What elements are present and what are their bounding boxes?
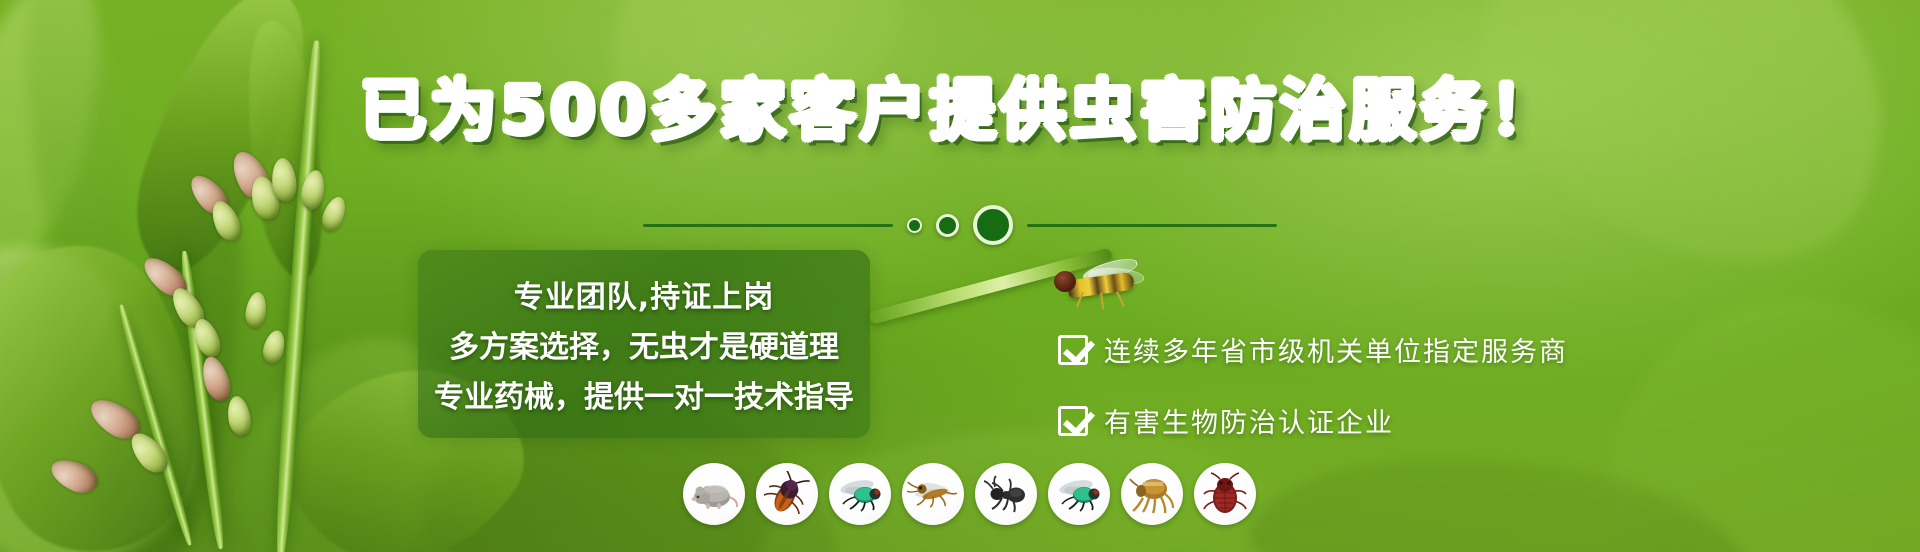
bedbug-icon [1194, 463, 1256, 525]
divider-line-right [1027, 224, 1277, 227]
mosquito-icon [902, 463, 964, 525]
blowfly-icon [829, 463, 891, 525]
banner-headline-text: 已为500多家客户提供虫害防治服务！ [360, 72, 1560, 149]
checkbox-checked-icon [1058, 335, 1088, 365]
dot-large-icon [973, 205, 1013, 245]
rat-icon [683, 463, 745, 525]
cockroach-icon [756, 463, 818, 525]
dot-medium-icon [936, 214, 959, 237]
hoverfly-head [1054, 271, 1076, 292]
certification-bullets: 连续多年省市级机关单位指定服务商 有害生物防治认证企业 [1058, 330, 1568, 472]
hoverfly-icon [1048, 260, 1156, 306]
selling-point-line-2: 多方案选择，无虫才是硬道理 [449, 322, 839, 366]
bullet-row-1: 连续多年省市级机关单位指定服务商 [1058, 330, 1568, 369]
dot-small-icon [907, 218, 922, 233]
bullet-text-2: 有害生物防治认证企业 [1104, 401, 1394, 440]
selling-point-line-3: 专业药械，提供一对一技术指导 [434, 372, 854, 416]
blowfly-icon-2 [1048, 463, 1110, 525]
flea-icon [1121, 463, 1183, 525]
selling-points-panel: 专业团队,持证上岗 多方案选择，无虫才是硬道理 专业药械，提供一对一技术指导 [418, 250, 870, 438]
checkbox-checked-icon [1058, 406, 1088, 436]
banner-headline: 已为500多家客户提供虫害防治服务！ [0, 78, 1920, 144]
pest-control-banner: 已为500多家客户提供虫害防治服务！ 专业团队,持证上岗 多方案选择，无虫才是硬… [0, 0, 1920, 552]
selling-point-line-1: 专业团队,持证上岗 [514, 272, 774, 316]
divider-line-left [643, 224, 893, 227]
bullet-row-2: 有害生物防治认证企业 [1058, 401, 1568, 440]
decorative-divider [0, 205, 1920, 245]
ant-icon [975, 463, 1037, 525]
bullet-text-1: 连续多年省市级机关单位指定服务商 [1104, 330, 1568, 369]
pest-icon-row [683, 463, 1256, 525]
